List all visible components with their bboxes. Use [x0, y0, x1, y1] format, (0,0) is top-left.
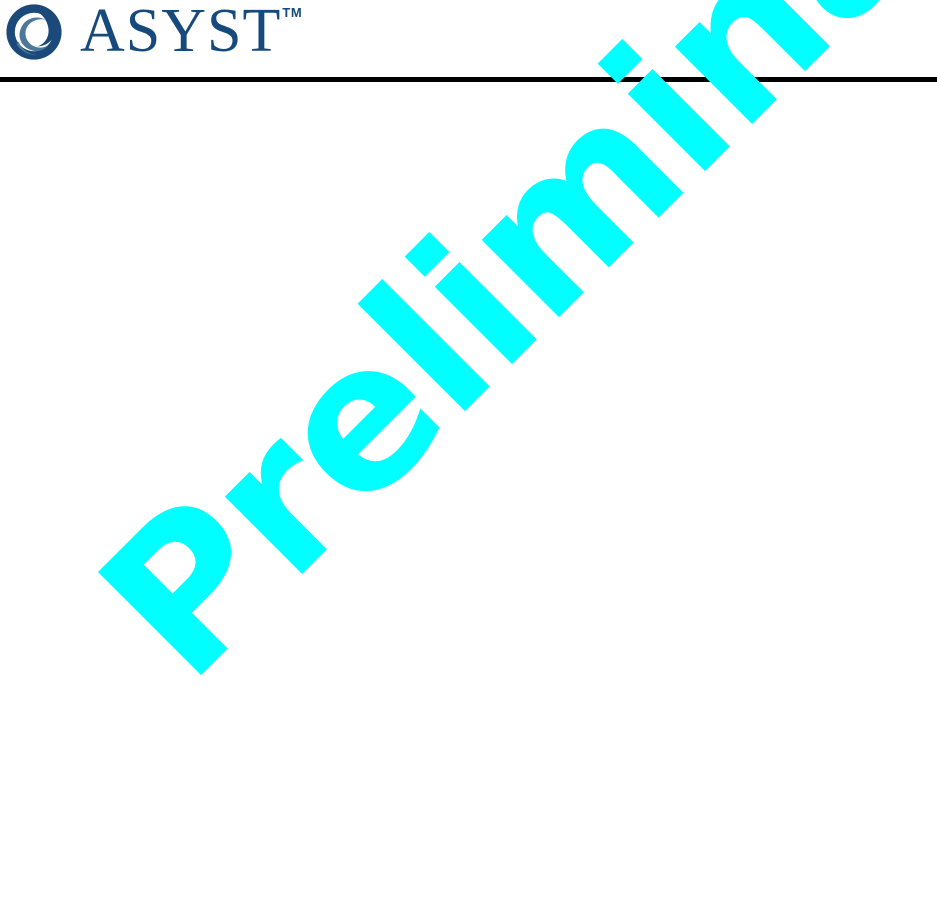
asyst-logo-lockup: ASYST TM — [4, 2, 302, 62]
asyst-swirl-logo-icon — [4, 2, 64, 62]
document-body — [0, 83, 937, 919]
header-divider-rule — [0, 77, 937, 82]
document-page: ASYST TM Preliminary — [0, 0, 937, 919]
brand-name-text: ASYST — [80, 0, 281, 62]
trademark-symbol: TM — [282, 6, 302, 19]
letterhead-header: ASYST TM — [0, 0, 937, 83]
asyst-wordmark: ASYST TM — [80, 0, 302, 62]
